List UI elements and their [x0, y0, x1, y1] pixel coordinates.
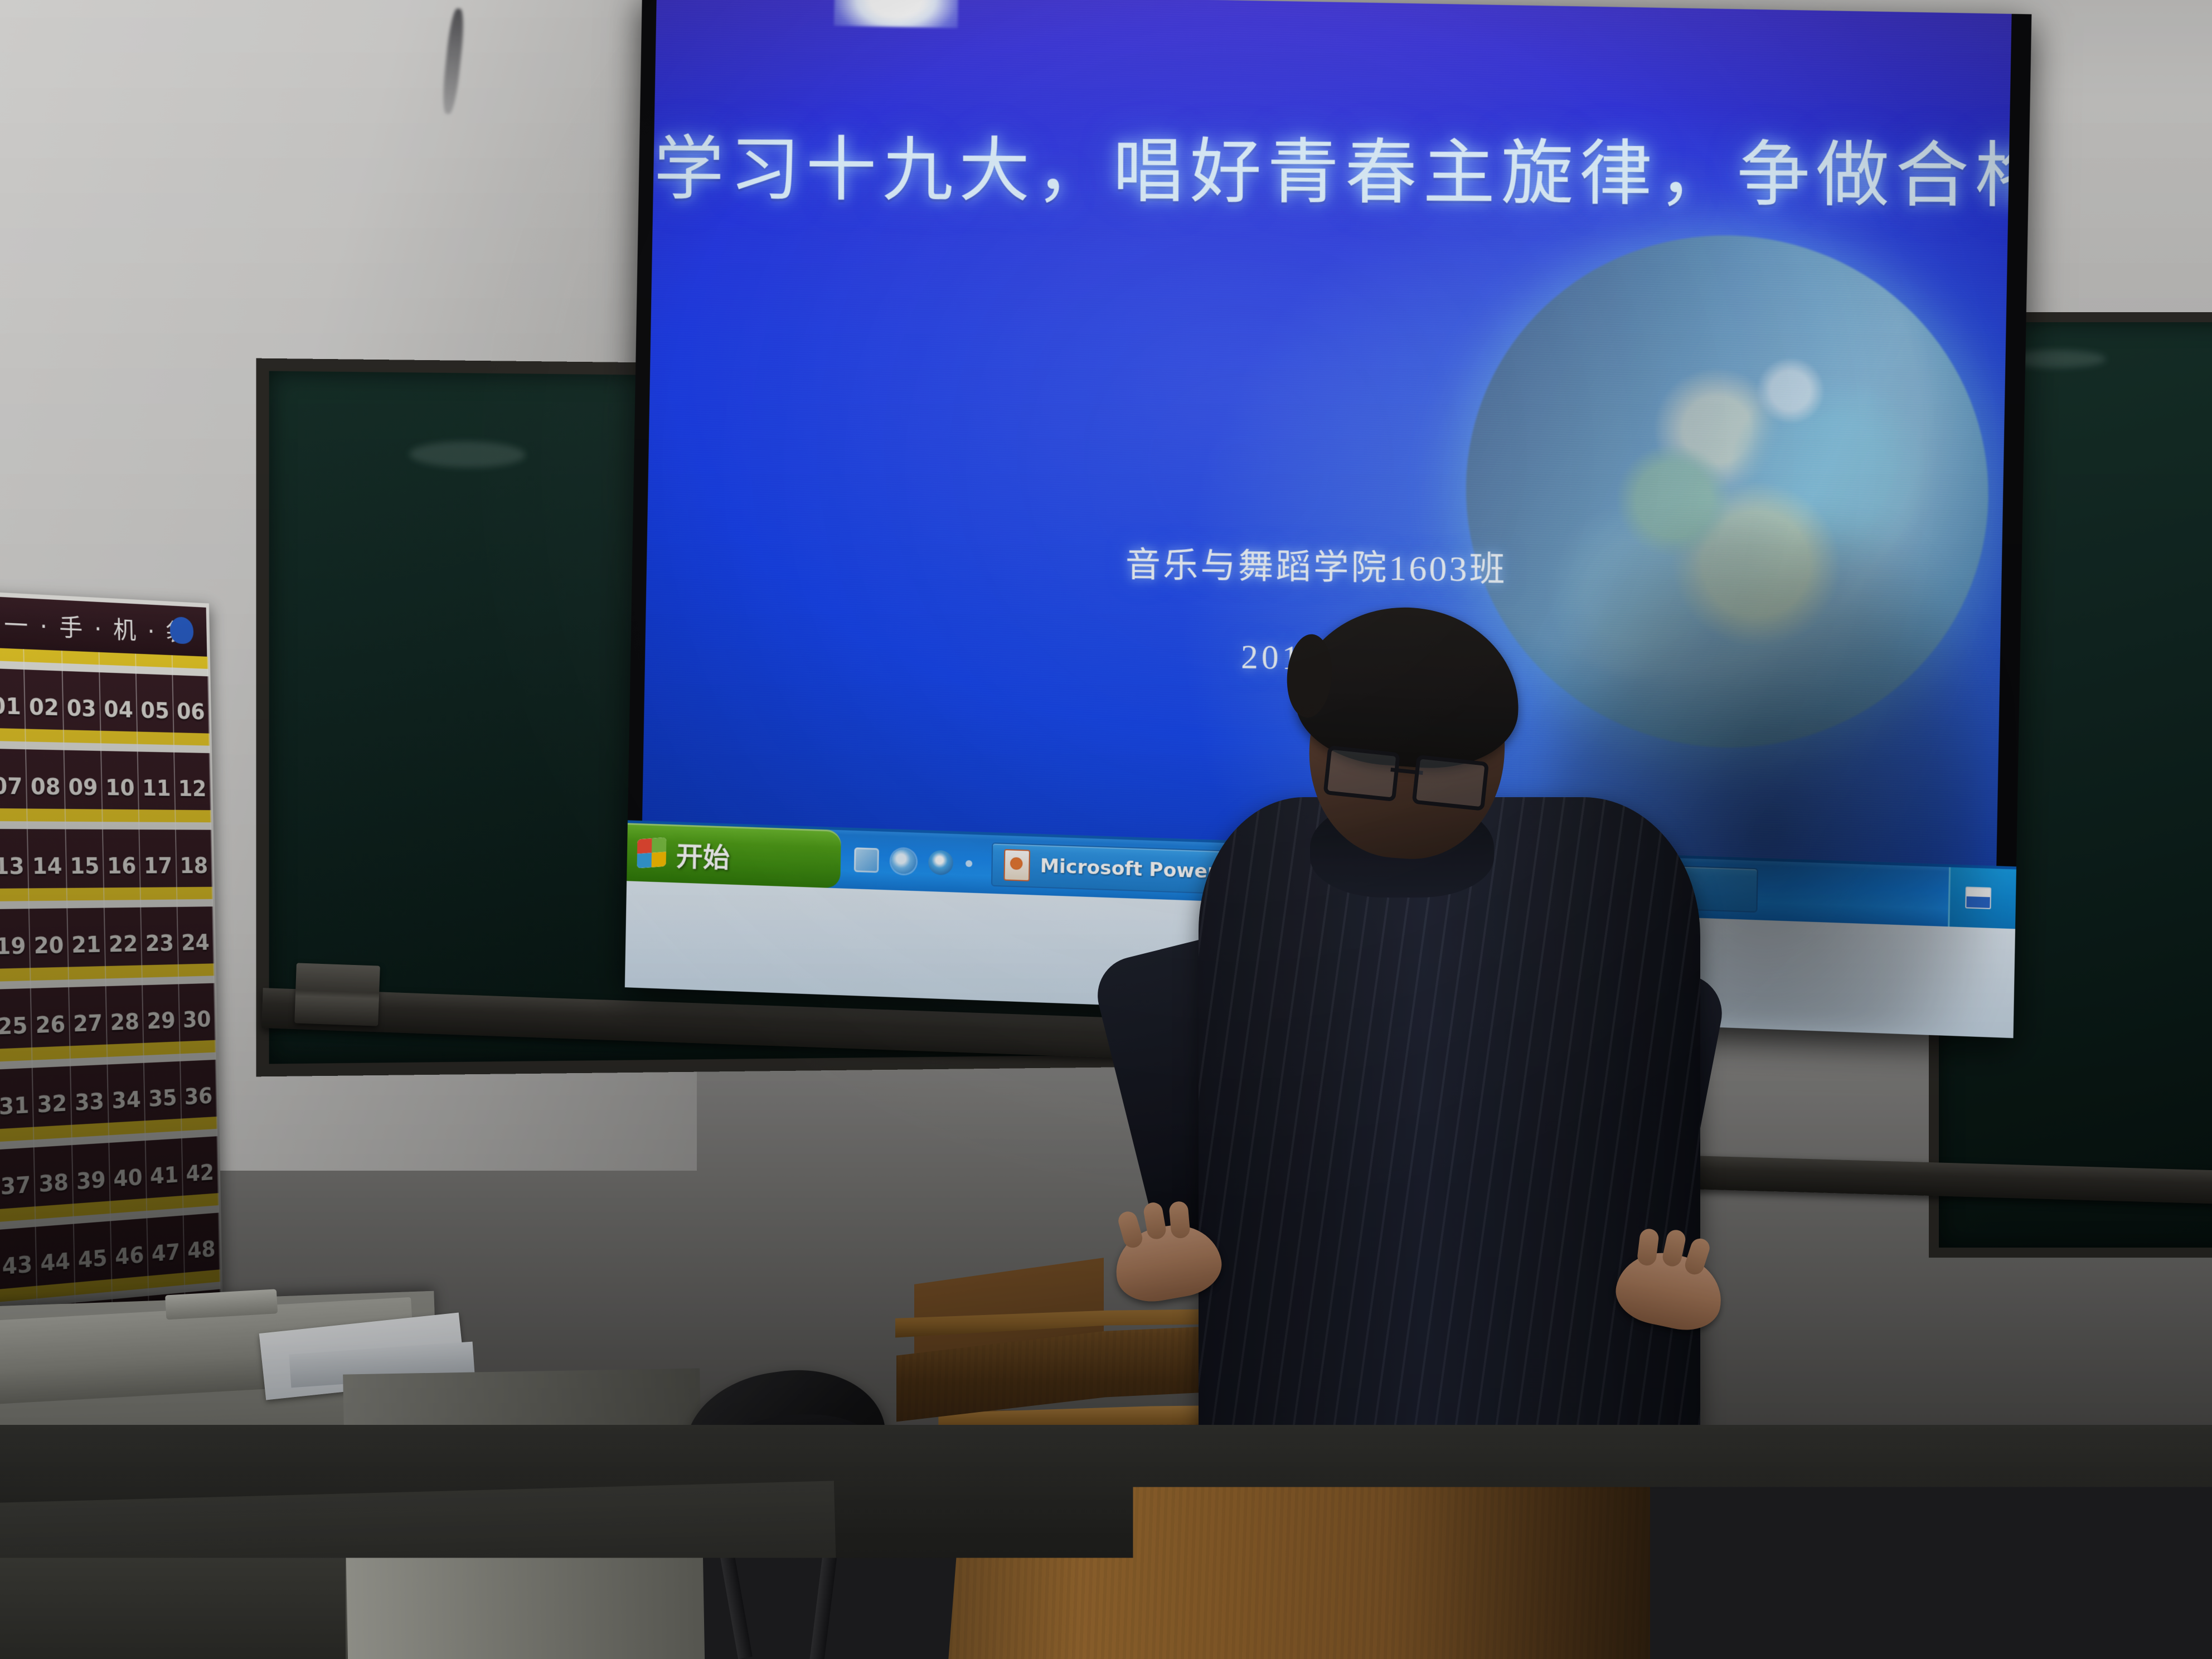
organizer-pocket-number: 09 [68, 775, 98, 801]
classroom-scene: 学习十九大，唱好青春主旋律，争做合格大学生 音乐与舞蹈学院1603班 2017.… [0, 0, 2212, 1659]
organizer-pocket[interactable]: 16 [103, 809, 141, 888]
organizer-pocket[interactable]: 26 [31, 967, 70, 1047]
organizer-pocket-number: 39 [76, 1167, 106, 1195]
organizer-pocket-number: 07 [0, 774, 23, 800]
organizer-header: 一 · 手 · 机 · 袋 [0, 596, 207, 656]
organizer-pocket-number: 37 [0, 1172, 31, 1200]
media-player-icon[interactable] [928, 850, 953, 876]
organizer-pocket[interactable]: 31 [0, 1047, 34, 1129]
organizer-pocket[interactable]: 21 [67, 887, 106, 967]
organizer-pocket-number: 45 [77, 1246, 108, 1273]
organizer-pocket[interactable]: 28 [106, 965, 144, 1044]
organizer-pocket[interactable]: 03 [62, 651, 101, 731]
blackboard-eraser[interactable] [294, 963, 380, 1026]
organizer-pocket[interactable]: 41 [145, 1119, 183, 1199]
organizer-pocket[interactable]: 05 [136, 654, 174, 733]
organizer-pocket-number: 01 [0, 693, 21, 720]
organizer-pocket[interactable]: 24 [177, 887, 215, 964]
organizer-pocket[interactable]: 40 [109, 1120, 147, 1201]
organizer-pocket[interactable]: 02 [25, 649, 64, 730]
organizer-pocket[interactable]: 12 [174, 733, 211, 810]
organizer-pocket[interactable]: 23 [141, 887, 179, 965]
windows-logo-icon [637, 837, 667, 869]
organizer-pocket-number: 40 [113, 1165, 143, 1192]
show-desktop-icon[interactable] [854, 847, 879, 873]
organizer-pocket[interactable]: 38 [34, 1125, 74, 1206]
organizer-pocket-number: 46 [115, 1243, 144, 1270]
organizer-pocket[interactable]: 47 [147, 1196, 185, 1276]
organizer-pocket-number: 13 [0, 854, 25, 880]
organizer-pocket[interactable]: 14 [27, 809, 67, 889]
organizer-pocket-number: 20 [33, 933, 64, 959]
organizer-pocket[interactable]: 30 [178, 963, 215, 1041]
organizer-pocket[interactable]: 34 [108, 1043, 145, 1123]
organizer-pocket-number: 48 [187, 1237, 216, 1264]
organizer-pocket-number: 21 [71, 933, 101, 958]
organizer-pocket[interactable]: 48 [183, 1193, 220, 1273]
organizer-pocket[interactable]: 36 [180, 1040, 217, 1119]
organizer-pocket[interactable]: 35 [144, 1041, 181, 1120]
organizer-pocket[interactable]: 32 [32, 1046, 72, 1127]
organizer-pocket-number: 44 [40, 1249, 70, 1277]
organizer-pocket-number: 08 [30, 774, 61, 800]
organizer-pocket[interactable]: 43 [0, 1206, 37, 1289]
organizer-pocket[interactable]: 10 [101, 731, 139, 809]
organizer-pocket[interactable]: 22 [104, 887, 143, 966]
organizer-pocket-number: 25 [0, 1013, 28, 1040]
organizer-pocket[interactable]: 42 [182, 1117, 219, 1196]
organizer-pocket-number: 38 [38, 1170, 69, 1197]
organizer-pocket[interactable]: 08 [26, 729, 66, 809]
organizer-pocket[interactable]: 25 [0, 968, 32, 1049]
organizer-pocket-number: 30 [183, 1007, 211, 1033]
organizer-pocket[interactable]: 20 [29, 888, 69, 968]
presenter-jacket [1199, 797, 1700, 1455]
organizer-pocket[interactable]: 46 [110, 1199, 148, 1279]
organizer-pocket[interactable]: 18 [176, 810, 213, 887]
organizer-pocket[interactable]: 15 [65, 809, 104, 888]
organizer-pocket[interactable]: 29 [143, 964, 180, 1043]
organizer-pocket[interactable]: 39 [72, 1123, 110, 1204]
organizer-pocket-number: 14 [32, 854, 62, 880]
organizer-pocket-number: 43 [2, 1252, 32, 1280]
organizer-pocket-grid: 0102030405060708091011121314151617181920… [0, 648, 222, 1316]
organizer-pocket[interactable]: 11 [138, 731, 176, 809]
organizer-pocket-number: 28 [110, 1010, 139, 1036]
organizer-header-label: 一 · 手 · 机 · 袋 [4, 605, 191, 648]
organizer-pocket[interactable]: 44 [36, 1204, 75, 1286]
organizer-pocket-number: 04 [104, 697, 133, 722]
organizer-pocket[interactable]: 09 [64, 730, 103, 809]
organizer-pocket-number: 31 [0, 1093, 30, 1120]
organizer-pocket-number: 42 [186, 1161, 214, 1187]
organizer-pocket[interactable]: 33 [70, 1045, 109, 1125]
organizer-pocket[interactable]: 06 [172, 655, 210, 733]
organizer-pocket-number: 33 [75, 1089, 105, 1116]
organizer-pocket-number: 34 [111, 1088, 141, 1114]
organizer-pocket-number: 05 [140, 698, 169, 724]
organizer-pocket[interactable]: 45 [74, 1201, 112, 1282]
organizer-pocket-number: 47 [151, 1240, 180, 1267]
start-button[interactable]: 开始 [627, 823, 841, 888]
quick-launch-overflow-icon[interactable] [966, 860, 972, 867]
start-button-label: 开始 [676, 834, 730, 875]
presenter [1126, 630, 1684, 1466]
organizer-pocket-number: 12 [178, 777, 206, 802]
organizer-pocket[interactable]: 01 [0, 648, 26, 729]
organizer-pocket-number: 26 [35, 1012, 66, 1039]
organizer-pocket[interactable]: 37 [0, 1127, 36, 1210]
organizer-pocket-number: 18 [180, 854, 208, 879]
organizer-pocket-number: 27 [73, 1011, 103, 1037]
organizer-pocket-number: 32 [37, 1091, 67, 1118]
organizer-pocket[interactable]: 17 [139, 809, 177, 887]
quick-launch-bar[interactable] [840, 830, 986, 893]
organizer-pocket-number: 11 [142, 776, 171, 801]
organizer-pocket-number: 35 [148, 1085, 177, 1112]
organizer-pocket-number: 02 [28, 695, 59, 721]
organizer-pocket[interactable]: 04 [99, 652, 138, 732]
organizer-pocket-number: 17 [143, 854, 172, 879]
organizer-pocket[interactable]: 27 [69, 966, 108, 1046]
organizer-pocket[interactable]: 19 [0, 888, 31, 968]
phone-pocket-organizer: 一 · 手 · 机 · 袋 01020304050607080910111213… [0, 591, 222, 1316]
organizer-pocket-number: 24 [181, 930, 210, 955]
organizer-pocket-number: 23 [145, 931, 174, 956]
organizer-pocket-number: 22 [109, 932, 138, 957]
organizer-pocket-number: 03 [66, 696, 96, 722]
network-icon[interactable] [1965, 886, 1991, 909]
organizer-pocket[interactable]: 13 [0, 808, 29, 889]
organizer-pocket-number: 36 [184, 1084, 212, 1110]
organizer-pocket-number: 29 [147, 1008, 176, 1034]
organizer-pocket-number: 16 [107, 854, 137, 879]
organizer-pocket[interactable]: 07 [0, 728, 27, 809]
organizer-pocket-number: 15 [70, 854, 100, 879]
powerpoint-icon [1003, 849, 1030, 881]
internet-explorer-icon[interactable] [891, 848, 916, 874]
classroom-floor-left [0, 1481, 838, 1659]
organizer-pocket-number: 19 [0, 934, 26, 960]
organizer-pocket-number: 06 [177, 700, 205, 725]
organizer-pocket-number: 10 [105, 775, 135, 801]
system-tray[interactable] [1948, 867, 2016, 929]
organizer-pocket-number: 41 [150, 1163, 179, 1190]
